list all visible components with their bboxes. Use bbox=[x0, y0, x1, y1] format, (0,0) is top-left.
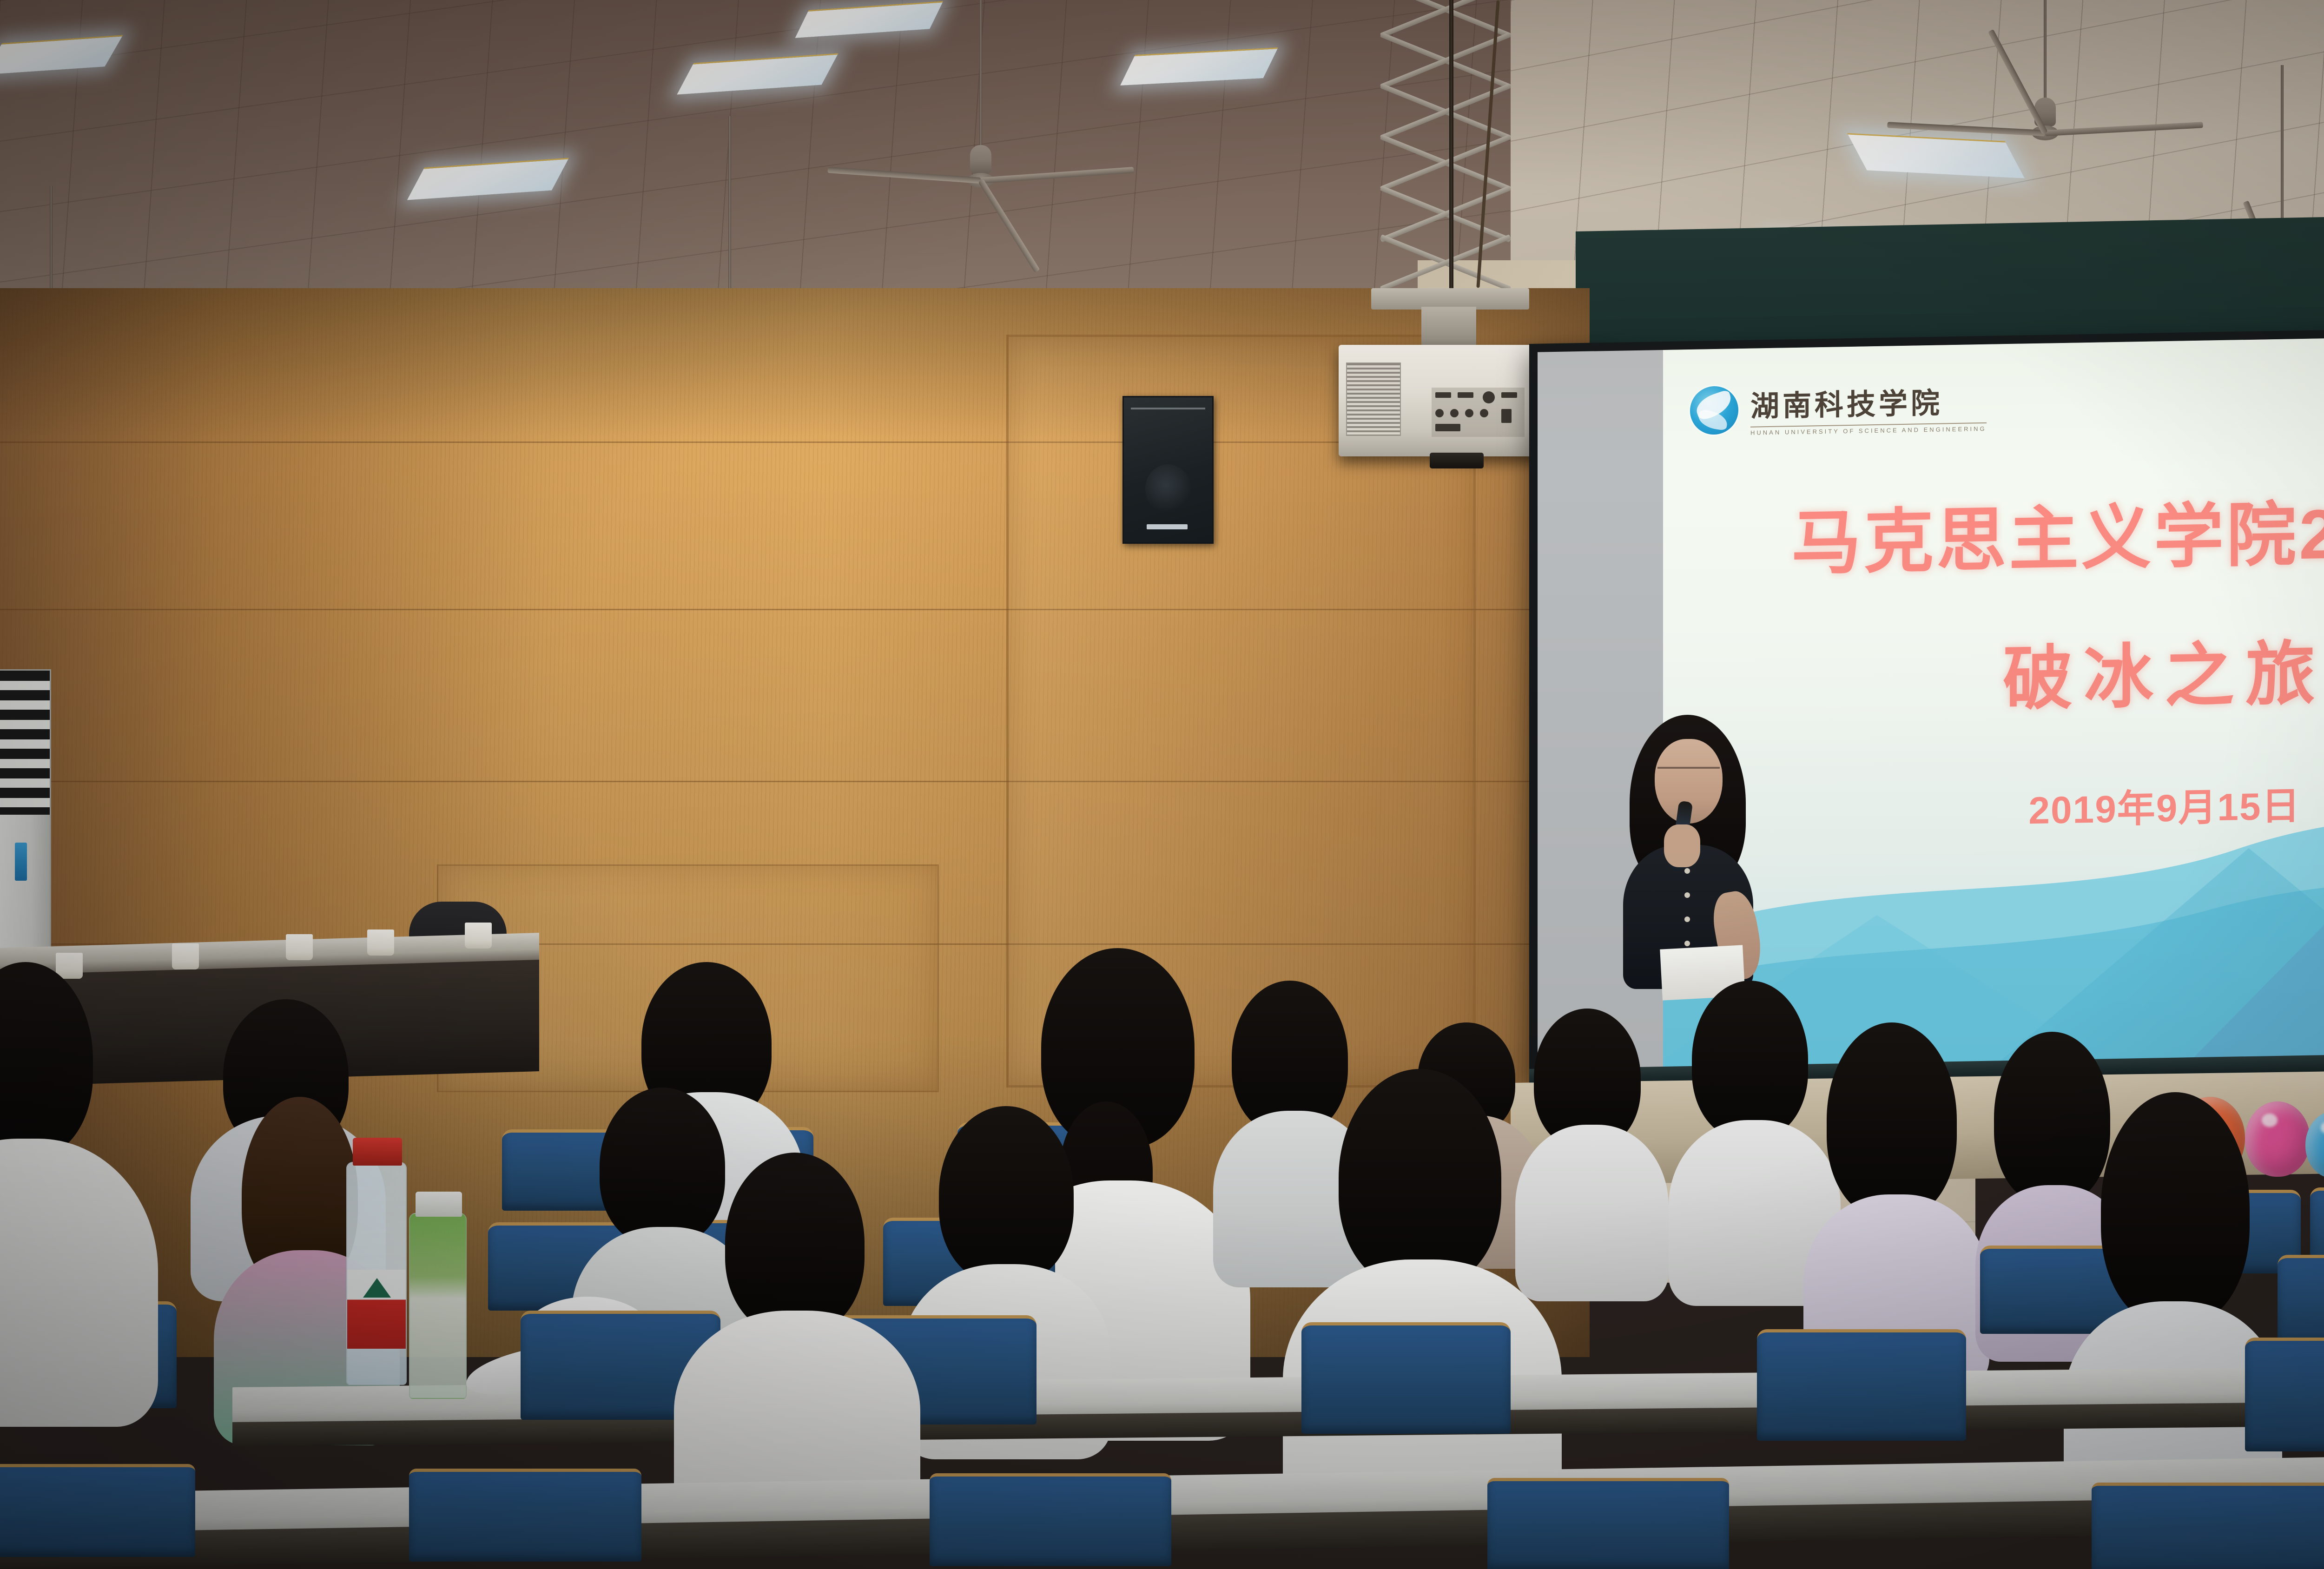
paper-cup bbox=[172, 943, 199, 969]
student-presenter bbox=[1609, 715, 1767, 994]
blouse-button bbox=[1684, 941, 1690, 946]
projector-lens bbox=[1430, 453, 1484, 468]
bottle-cap bbox=[416, 1192, 462, 1217]
person-hair bbox=[1994, 1032, 2110, 1204]
projector-port bbox=[1435, 392, 1451, 398]
university-name: 湖南科技学院 bbox=[1750, 379, 1987, 425]
projector-port bbox=[1501, 392, 1517, 398]
auditorium-seat[interactable] bbox=[1757, 1329, 1966, 1441]
person-hair bbox=[2101, 1092, 2250, 1325]
person-hair bbox=[725, 1153, 865, 1334]
projector-scissor-lift bbox=[1376, 0, 1529, 325]
person-hair bbox=[1692, 981, 1808, 1139]
auditorium-photo: 湖南科技学院 HUNAN UNIVERSITY OF SCIENCE AND E… bbox=[0, 0, 2324, 1569]
auditorium-seat[interactable] bbox=[0, 1464, 195, 1557]
speaker-cone bbox=[1145, 464, 1191, 514]
wall-speaker bbox=[1122, 396, 1214, 544]
slide-title-line1: 马克思主义学院2019级 bbox=[1663, 472, 2324, 590]
bottle-label-mountain-icon bbox=[363, 1278, 391, 1298]
auditorium-seat[interactable] bbox=[409, 1469, 641, 1562]
speaker-slit bbox=[1131, 408, 1205, 409]
projector-port bbox=[1458, 392, 1473, 398]
person-hair bbox=[600, 1088, 725, 1246]
person-hair bbox=[1339, 1069, 1501, 1287]
auditorium-seat[interactable] bbox=[930, 1473, 1171, 1566]
projector-port bbox=[1501, 409, 1512, 423]
person-torso bbox=[1515, 1125, 1669, 1301]
auditorium-seat[interactable] bbox=[1301, 1322, 1511, 1434]
projector-port bbox=[1483, 391, 1495, 403]
projector-port bbox=[1480, 409, 1488, 417]
projector-port bbox=[1450, 409, 1459, 417]
auditorium-seat[interactable] bbox=[2245, 1338, 2324, 1451]
projector-port bbox=[1465, 409, 1473, 417]
paper-cup bbox=[367, 930, 394, 956]
water-bottle-nongfu bbox=[346, 1162, 407, 1385]
green-drink-bottle bbox=[409, 1213, 467, 1399]
fan-rod bbox=[728, 116, 731, 293]
blouse-button bbox=[1684, 892, 1690, 898]
ceiling-fan bbox=[967, 0, 995, 228]
speaker-logo bbox=[1147, 524, 1187, 529]
auditorium-seat[interactable] bbox=[1487, 1478, 1729, 1569]
projector-mount-neck bbox=[1421, 307, 1476, 347]
paper-cup bbox=[286, 934, 313, 960]
person-hair bbox=[939, 1106, 1074, 1283]
blouse-button bbox=[1684, 916, 1690, 922]
blouse-button bbox=[1684, 868, 1690, 874]
presenter-hand bbox=[1664, 824, 1700, 867]
fan-rod bbox=[2044, 0, 2047, 102]
university-logo: 湖南科技学院 HUNAN UNIVERSITY OF SCIENCE AND E… bbox=[1690, 379, 1987, 437]
university-name-english: HUNAN UNIVERSITY OF SCIENCE AND ENGINEER… bbox=[1750, 422, 1987, 436]
scissor-section bbox=[1376, 186, 1515, 242]
balloon bbox=[2245, 1101, 2310, 1177]
projector-cable bbox=[1449, 0, 1453, 302]
projector-port bbox=[1435, 409, 1444, 417]
projector-port bbox=[1435, 424, 1460, 431]
bottle-cap bbox=[353, 1138, 402, 1166]
person-hair bbox=[1827, 1022, 1957, 1218]
scissor-section bbox=[1376, 84, 1515, 139]
projector-control-panel[interactable] bbox=[1432, 388, 1525, 437]
presenter-glasses bbox=[1657, 767, 1720, 779]
fan-rod bbox=[979, 0, 982, 149]
scissor-section bbox=[1376, 235, 1515, 290]
auditorium-seat[interactable] bbox=[2278, 1255, 2324, 1345]
scissor-section bbox=[1376, 135, 1515, 191]
fan-motor bbox=[970, 145, 991, 174]
paper-cup bbox=[56, 953, 83, 979]
university-logo-icon bbox=[1690, 386, 1738, 435]
slide-title-line2: 破冰之旅 bbox=[1663, 611, 2324, 730]
ac-badge bbox=[15, 843, 27, 881]
ac-louvre-vent bbox=[0, 671, 50, 815]
auditorium-seat[interactable] bbox=[2092, 1483, 2324, 1569]
paper-cup bbox=[465, 923, 492, 949]
projector-vent bbox=[1346, 363, 1401, 436]
